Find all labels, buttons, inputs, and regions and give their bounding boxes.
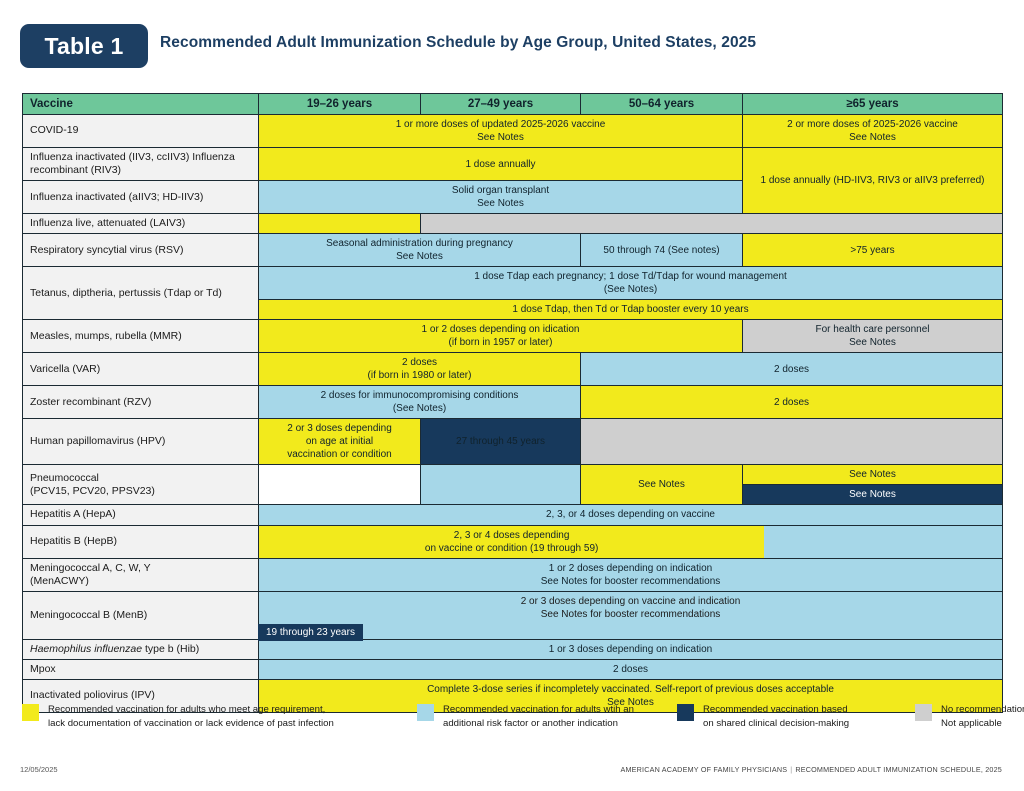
schedule-cell: For health care personnelSee Notes <box>743 320 1003 353</box>
table-header-row: Vaccine 19–26 years 27–49 years 50–64 ye… <box>23 94 1003 115</box>
schedule-cell: 1 or 2 doses depending on indicationSee … <box>259 558 1003 591</box>
schedule-cell: 2 or 3 doses dependingon age at initialv… <box>259 419 421 465</box>
column-header-19-26: 19–26 years <box>259 94 421 115</box>
age-range-tag-row: 19 through 23 years <box>259 622 1002 639</box>
schedule-cell <box>259 214 421 234</box>
schedule-cell: 2 or more doses of 2025-2026 vaccineSee … <box>743 115 1003 148</box>
vaccine-name-cell: Mpox <box>23 659 259 679</box>
schedule-subcell: 1 dose Tdap, then Td or Tdap booster eve… <box>259 299 1002 319</box>
schedule-cell: See Notes <box>581 465 743 505</box>
vaccine-name-cell: Tetanus, diptheria, pertussis (Tdap or T… <box>23 267 259 320</box>
schedule-cell: >75 years <box>743 234 1003 267</box>
legend-label-gray: No recommendationNot applicable <box>941 703 1024 731</box>
schedule-cell: 2, 3, or 4 doses depending on vaccine <box>259 505 1003 525</box>
table-row: COVID-191 or more doses of updated 2025-… <box>23 115 1003 148</box>
vaccine-name-cell: Human papillomavirus (HPV) <box>23 419 259 465</box>
schedule-subcell: 1 dose Tdap each pregnancy; 1 dose Td/Td… <box>259 267 1002 299</box>
schedule-subcell: See Notes <box>743 484 1002 504</box>
vaccine-name-cell: Measles, mumps, rubella (MMR) <box>23 320 259 353</box>
legend-label-yellow: Recommended vaccination for adults who m… <box>48 703 334 731</box>
table-body: COVID-191 or more doses of updated 2025-… <box>23 115 1003 713</box>
schedule-cell-split: 1 dose Tdap each pregnancy; 1 dose Td/Td… <box>259 267 1003 320</box>
table-row: Respiratory syncytial virus (RSV)Seasona… <box>23 234 1003 267</box>
schedule-cell: 2 doses(if born in 1980 or later) <box>259 353 581 386</box>
vaccine-name-cell: COVID-19 <box>23 115 259 148</box>
legend-label-navy: Recommended vaccination basedon shared c… <box>703 703 849 731</box>
schedule-cell: 1 dose annually (HD-IIV3, RIV3 or aIIV3 … <box>743 148 1003 214</box>
immunization-schedule-table: Vaccine 19–26 years 27–49 years 50–64 ye… <box>22 93 1003 713</box>
table-number-label: Table 1 <box>45 33 124 60</box>
vaccine-name-cell: Pneumococcal(PCV15, PCV20, PPSV23) <box>23 465 259 505</box>
schedule-segment <box>764 526 1002 558</box>
schedule-cell <box>421 214 1003 234</box>
legend-item-risk-factor: Recommended vaccination for adults wtih … <box>417 703 667 731</box>
schedule-cell: 50 through 74 (See notes) <box>581 234 743 267</box>
schedule-cell: 1 or 2 doses depending on idication(if b… <box>259 320 743 353</box>
table-row: Tetanus, diptheria, pertussis (Tdap or T… <box>23 267 1003 320</box>
schedule-cell-menb: 2 or 3 doses depending on vaccine and in… <box>259 591 1003 639</box>
schedule-cell <box>259 465 421 505</box>
schedule-cell: 1 or more doses of updated 2025-2026 vac… <box>259 115 743 148</box>
vaccine-name-cell: Influenza inactivated (aIIV3; HD-IIV3) <box>23 181 259 214</box>
schedule-cell-stacked: See NotesSee Notes <box>743 465 1003 505</box>
vaccine-name-cell: Hepatitis B (HepB) <box>23 525 259 558</box>
schedule-cell: 2 doses for immunocompromising condition… <box>259 386 581 419</box>
footer-source: American Academy of Family Physicians|Re… <box>620 765 1002 774</box>
table-row: Haemophilus influenzae type b (Hib)1 or … <box>23 639 1003 659</box>
table-row: Human papillomavirus (HPV)2 or 3 doses d… <box>23 419 1003 465</box>
vaccine-name-cell: Hepatitis A (HepA) <box>23 505 259 525</box>
footer-source-right: Recommended Adult Immunization Schedule,… <box>795 765 1002 774</box>
schedule-segment: 2, 3 or 4 doses dependingon vaccine or c… <box>259 526 764 558</box>
schedule-cell: Seasonal administration during pregnancy… <box>259 234 581 267</box>
schedule-cell: 1 dose annually <box>259 148 743 181</box>
table-row: Meningococcal A, C, W, Y(MenACWY)1 or 2 … <box>23 558 1003 591</box>
vaccine-name-cell: Influenza live, attenuated (LAIV3) <box>23 214 259 234</box>
footer-source-left: American Academy of Family Physicians <box>620 765 787 774</box>
table-row: Varicella (VAR)2 doses(if born in 1980 o… <box>23 353 1003 386</box>
schedule-cell <box>581 419 1003 465</box>
table-row: Influenza live, attenuated (LAIV3) <box>23 214 1003 234</box>
table-row: Hepatitis B (HepB)2, 3 or 4 doses depend… <box>23 525 1003 558</box>
vaccine-name-cell: Meningococcal B (MenB) <box>23 591 259 639</box>
schedule-cell-text: 2 or 3 doses depending on vaccine and in… <box>259 592 1002 622</box>
schedule-cell: 1 or 3 doses depending on indication <box>259 639 1003 659</box>
legend-item-shared-decision: Recommended vaccination basedon shared c… <box>677 703 892 731</box>
column-header-vaccine: Vaccine <box>23 94 259 115</box>
page-header: Table 1 Recommended Adult Immunization S… <box>0 0 1024 88</box>
column-header-27-49: 27–49 years <box>421 94 581 115</box>
legend-swatch-blue <box>417 704 434 721</box>
schedule-cell: 2 doses <box>581 353 1003 386</box>
page-title: Recommended Adult Immunization Schedule … <box>160 34 756 52</box>
vaccine-name-cell: Influenza inactivated (IIV3, ccIIV3) Inf… <box>23 148 259 181</box>
table-row: Measles, mumps, rubella (MMR)1 or 2 dose… <box>23 320 1003 353</box>
table-row: Influenza inactivated (IIV3, ccIIV3) Inf… <box>23 148 1003 181</box>
schedule-subcell: See Notes <box>743 465 1002 484</box>
legend-item-recommended-age: Recommended vaccination for adults who m… <box>22 703 372 731</box>
vaccine-name-cell: Zoster recombinant (RZV) <box>23 386 259 419</box>
vaccine-name-cell: Meningococcal A, C, W, Y(MenACWY) <box>23 558 259 591</box>
footer-date: 12/05/2025 <box>20 765 58 774</box>
vaccine-name-cell: Varicella (VAR) <box>23 353 259 386</box>
vaccine-name-cell: Haemophilus influenzae type b (Hib) <box>23 639 259 659</box>
schedule-cell: 2 doses <box>259 659 1003 679</box>
legend-item-no-recommendation: No recommendationNot applicable <box>915 703 1024 731</box>
table-row: Meningococcal B (MenB)2 or 3 doses depen… <box>23 591 1003 639</box>
vaccine-name-cell: Respiratory syncytial virus (RSV) <box>23 234 259 267</box>
legend-swatch-yellow <box>22 704 39 721</box>
page-footer: 12/05/2025 American Academy of Family Ph… <box>0 765 1024 785</box>
schedule-cell: Solid organ transplantSee Notes <box>259 181 743 214</box>
schedule-cell: 2 doses <box>581 386 1003 419</box>
legend-swatch-navy <box>677 704 694 721</box>
legend-swatch-gray <box>915 704 932 721</box>
table-row: Pneumococcal(PCV15, PCV20, PPSV23)See No… <box>23 465 1003 505</box>
schedule-cell <box>421 465 581 505</box>
column-header-50-64: 50–64 years <box>581 94 743 115</box>
schedule-cell-partial: 2, 3 or 4 doses dependingon vaccine or c… <box>259 525 1003 558</box>
table-number-badge: Table 1 <box>20 24 148 68</box>
table-row: Zoster recombinant (RZV)2 doses for immu… <box>23 386 1003 419</box>
column-header-65plus: ≥65 years <box>743 94 1003 115</box>
page-root: Table 1 Recommended Adult Immunization S… <box>0 0 1024 791</box>
legend-label-blue: Recommended vaccination for adults wtih … <box>443 703 634 731</box>
table-row: Hepatitis A (HepA)2, 3, or 4 doses depen… <box>23 505 1003 525</box>
schedule-cell: 27 through 45 years <box>421 419 581 465</box>
table-row: Mpox2 doses <box>23 659 1003 679</box>
age-range-tag: 19 through 23 years <box>258 624 363 641</box>
legend: Recommended vaccination for adults who m… <box>22 703 1002 743</box>
